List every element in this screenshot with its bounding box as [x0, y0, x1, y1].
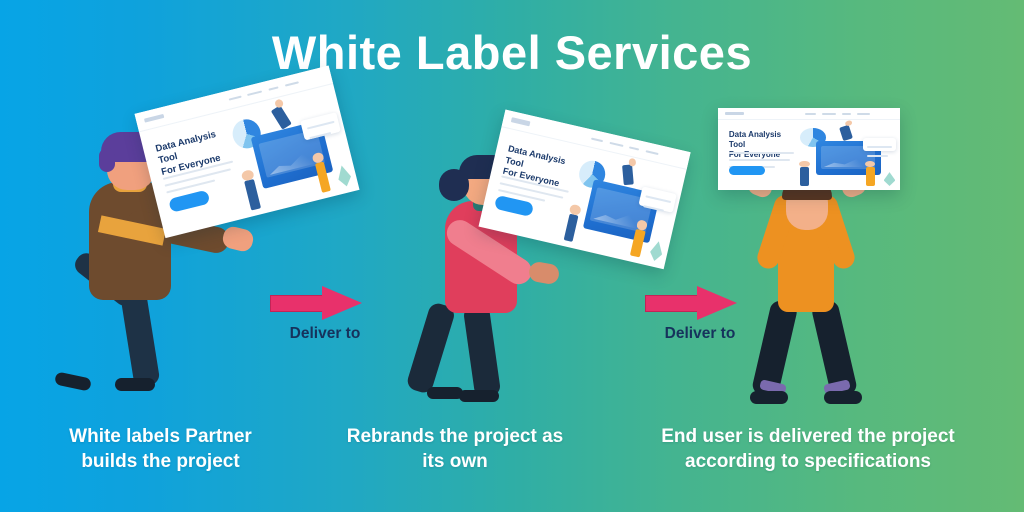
figure-right [866, 167, 875, 186]
mockup2-logo [510, 117, 530, 126]
mockup1-nav-link-4[interactable] [285, 81, 299, 86]
mockup1-nav-link-1[interactable] [229, 96, 242, 101]
figure-top [270, 105, 291, 129]
arrow-right-icon [645, 286, 737, 320]
page-title: White Label Services [0, 28, 1024, 77]
mockup3-body-line-2 [729, 159, 791, 161]
connector-1-label: Deliver to [270, 325, 380, 343]
person2-hair-bun [439, 169, 469, 201]
figure-top [622, 164, 634, 185]
infographic-canvas: White Label Services [0, 0, 1024, 512]
person3-right-shoe [824, 391, 862, 404]
mockup1-illustration [226, 91, 354, 212]
step-1-caption: White labels Partner builds the project [18, 424, 303, 474]
person1-hair-side [99, 148, 115, 172]
mockup3-logo [725, 112, 743, 115]
step-2-caption: Rebrands the project as its own [310, 424, 600, 474]
mockup1-nav-link-3[interactable] [269, 86, 279, 90]
figure-left [244, 179, 261, 210]
mockup2-nav-link-4[interactable] [645, 150, 658, 155]
connector-2: Deliver to [645, 286, 755, 343]
mockup2-nav-link-1[interactable] [591, 137, 603, 142]
browser-mockup-step-3[interactable]: Data Analysis Tool For Everyone [718, 108, 900, 190]
mockup3-nav-link-2[interactable] [822, 113, 835, 115]
person1-front-leg [119, 287, 160, 388]
figure-left [800, 167, 809, 186]
person2-back-leg [405, 301, 456, 395]
mockup3-navbar [718, 108, 900, 120]
mockup3-nav-links [789, 113, 893, 115]
mockup3-nav-link-3[interactable] [842, 113, 851, 115]
person2-hand [527, 261, 560, 286]
mockup2-nav-link-2[interactable] [609, 141, 623, 146]
mockup2-nav-link-3[interactable] [629, 146, 639, 150]
person2-front-shoe [459, 390, 499, 402]
person1-hand [221, 225, 255, 254]
connector-2-label: Deliver to [645, 325, 755, 343]
person1-back-shoe [54, 371, 92, 391]
figure-left [563, 213, 578, 242]
tooltip-card [863, 138, 896, 151]
person2-back-shoe [427, 387, 463, 399]
mockup3-body: Data Analysis Tool For Everyone [718, 120, 900, 190]
mockup3-illustration [798, 124, 896, 187]
mockup3-primary-button[interactable] [729, 166, 765, 175]
mockup2-illustration [561, 152, 682, 265]
step-3-caption: End user is delivered the project accord… [608, 424, 1008, 474]
arrow-right-icon [270, 286, 362, 320]
leaf-decor-icon [884, 172, 896, 186]
mockup2-header-cta-button[interactable] [664, 155, 681, 159]
person1-front-shoe [115, 378, 155, 391]
end-user-person [748, 172, 898, 414]
mockup1-logo [144, 114, 165, 123]
browser-mockup-step-1[interactable]: Data Analysis Tool For Everyone [135, 66, 360, 239]
mockup3-nav-link-1[interactable] [805, 113, 816, 115]
leaf-decor-icon [335, 164, 353, 188]
connector-1: Deliver to [270, 286, 380, 343]
tooltip-card [300, 112, 340, 140]
mockup1-nav-link-2[interactable] [248, 90, 263, 96]
mockup3-body-line-1 [729, 152, 795, 154]
mockup1-header-cta-button[interactable] [305, 76, 323, 80]
person3-left-shoe [750, 391, 788, 404]
mockup3-nav-link-4[interactable] [857, 113, 869, 115]
leaf-decor-icon [648, 240, 665, 262]
person2-front-leg [463, 304, 502, 399]
figure-top [839, 125, 853, 141]
